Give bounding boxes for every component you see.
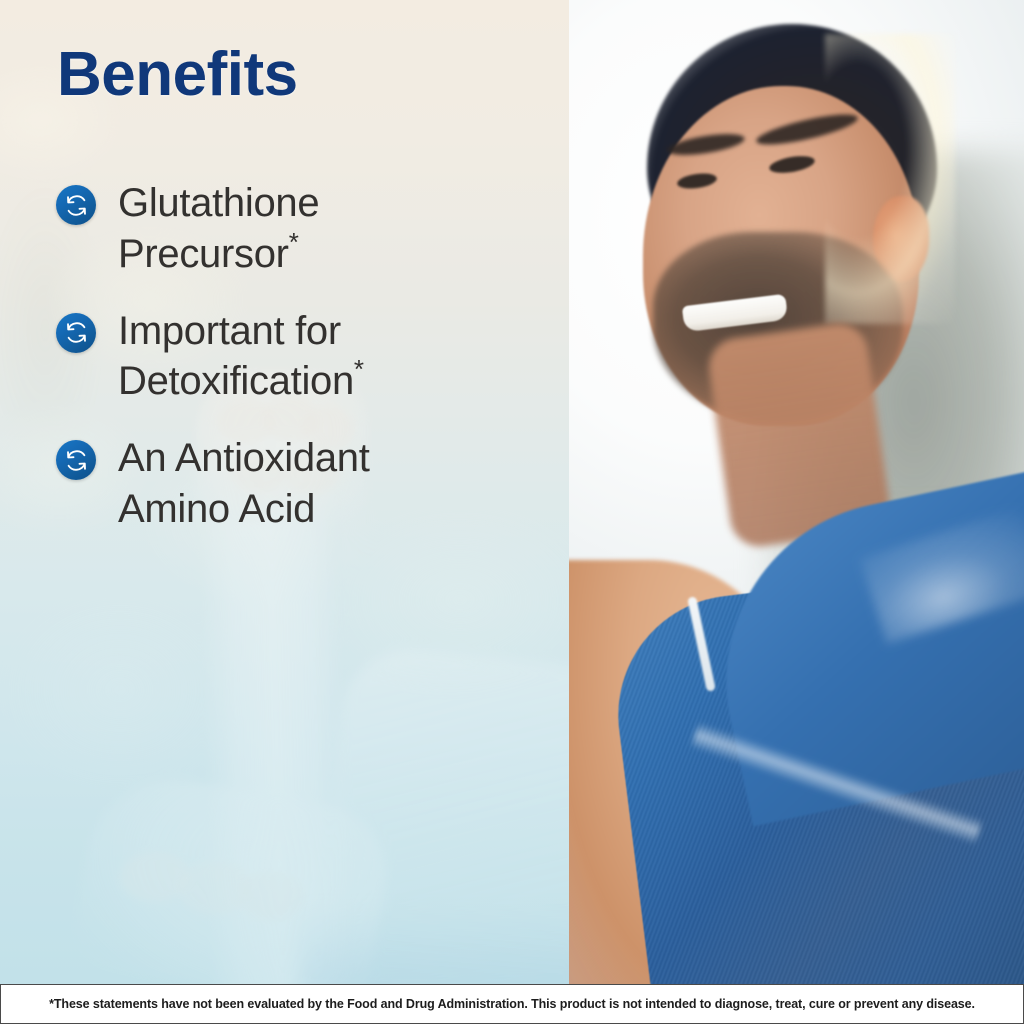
benefit-asterisk: * bbox=[354, 354, 364, 384]
ghost-shirt bbox=[300, 905, 569, 984]
benefit-line-2: Precursor bbox=[118, 232, 289, 276]
benefits-list: Glutathione Precursor* Important for D bbox=[56, 178, 536, 561]
benefit-line-1: Glutathione bbox=[118, 181, 319, 225]
benefit-asterisk: * bbox=[289, 227, 299, 257]
lifestyle-photo bbox=[569, 0, 1024, 984]
product-benefits-panel: Benefits Glutathione Precursor* bbox=[0, 0, 1024, 1024]
ghost-knuckle bbox=[238, 872, 304, 920]
benefit-line-1: Important for bbox=[118, 309, 341, 353]
circular-arrows-icon bbox=[56, 440, 96, 480]
circular-arrows-icon bbox=[56, 313, 96, 353]
benefits-panel: Benefits Glutathione Precursor* bbox=[0, 0, 569, 984]
page-title: Benefits bbox=[57, 44, 298, 106]
benefit-item: An Antioxidant Amino Acid bbox=[56, 433, 536, 535]
benefit-line-2: Detoxification bbox=[118, 359, 354, 403]
benefit-item: Important for Detoxification* bbox=[56, 306, 536, 408]
benefit-label: Glutathione Precursor* bbox=[118, 178, 319, 280]
benefit-item: Glutathione Precursor* bbox=[56, 178, 536, 280]
benefit-line-2: Amino Acid bbox=[118, 487, 315, 531]
circular-arrows-icon bbox=[56, 185, 96, 225]
fda-disclaimer-text: *These statements have not been evaluate… bbox=[49, 997, 975, 1011]
photo-hair-rimlight bbox=[825, 34, 955, 324]
benefit-label: An Antioxidant Amino Acid bbox=[118, 433, 370, 535]
benefit-line-1: An Antioxidant bbox=[118, 436, 370, 480]
fda-disclaimer-bar: *These statements have not been evaluate… bbox=[0, 984, 1024, 1024]
benefit-label: Important for Detoxification* bbox=[118, 306, 364, 408]
